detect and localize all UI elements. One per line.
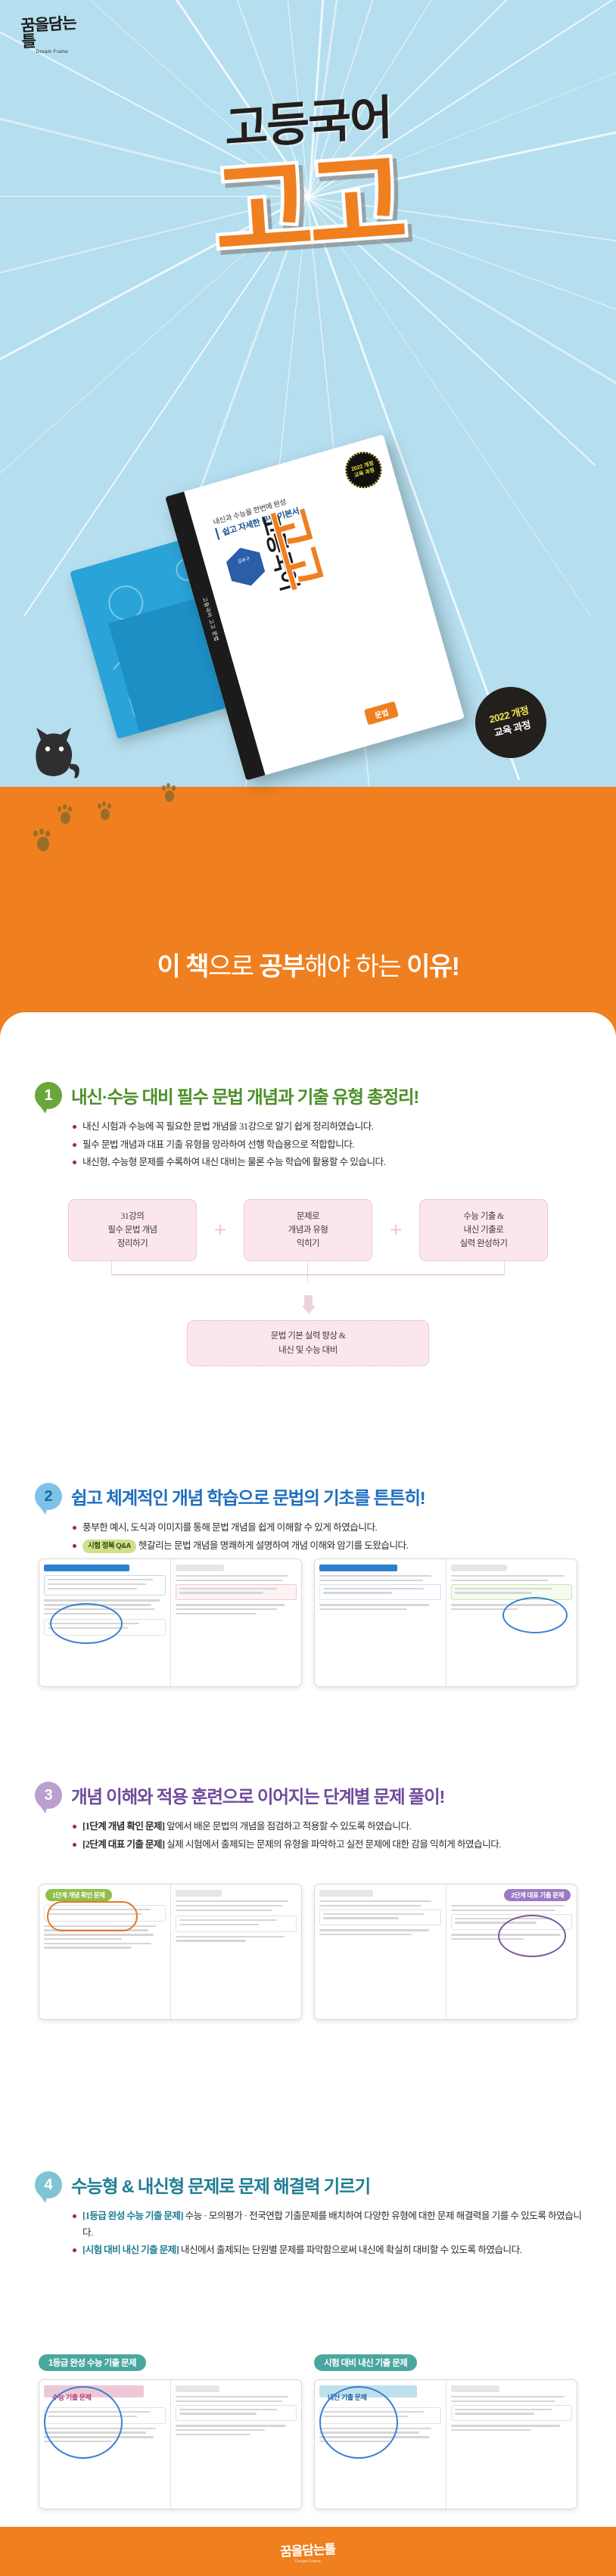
bullet-text: 앞에서 배운 문법의 개념을 점검하고 적용할 수 있도록 하였습니다. <box>164 1821 411 1832</box>
flow-arrow-icon <box>302 1295 315 1314</box>
feature-2-title: 쉽고 체계적인 개념 학습으로 문법의 기초를 튼튼히! <box>71 1484 425 1509</box>
bullet-strong: [1등급 완성 수능 기출 문제] <box>82 2211 183 2221</box>
banner-heading-p5: 이유! <box>406 952 459 981</box>
flow-plus-icon: + <box>197 1218 244 1242</box>
flow-plus-icon: + <box>372 1218 419 1242</box>
feature-3-number: 3 <box>35 1782 62 1809</box>
book-front-cover: 고등국어 고고 문법 내신과 수능을 한번에 완성 쉽고 자세한 문법 기본서 … <box>165 434 465 781</box>
cat-icon <box>27 725 80 779</box>
bullet-text: 헷갈리는 문법 개념을 명쾌하게 설명하여 개념 이해와 암기를 도왔습니다. <box>138 1540 408 1551</box>
footer-brand-logo: 꿈을담는틀 Dream Frame <box>280 2540 335 2564</box>
book-spread-mock <box>39 1558 302 1687</box>
bullet-item: [1단계 개념 확인 문제] 앞에서 배운 문법의 개념을 점검하고 적용할 수… <box>73 1819 586 1835</box>
footer-logo-kr: 꿈을담는틀 <box>280 2538 336 2560</box>
banner-heading-p4: 해야 하는 <box>304 952 406 981</box>
spread-page-left: 1단계 개념 확인 문제 <box>39 1885 170 2019</box>
feature-3-bullets: [1단계 개념 확인 문제] 앞에서 배운 문법의 개념을 점검하고 적용할 수… <box>0 1819 616 1853</box>
feature-4-bullets: [1등급 완성 수능 기출 문제] 수능 · 모의평가 · 전국연합 기출문제를… <box>0 2208 616 2259</box>
orange-banner <box>0 787 616 1036</box>
bullet-item: 내신형, 수능형 문제를 수록하여 내신 대비는 물론 수능 학습에 활용할 수… <box>73 1154 586 1171</box>
bullet-item: [2단계 대표 기출 문제] 실제 시험에서 출제되는 문제의 유형을 파악하고… <box>73 1837 586 1854</box>
book-spread-mock: 내신 기출 문제 <box>314 2379 577 2509</box>
spread-page-right: 2단계 대표 기출 문제 <box>446 1885 577 2019</box>
banner-heading-p3: 공부 <box>260 952 305 981</box>
book-photo: 고등국어 고고 문법 내신과 수능을 한번에 완성 쉽고 자세한 문법 기본서 … <box>89 439 521 757</box>
feature-2-header: 2 쉽고 체계적인 개념 학습으로 문법의 기초를 튼튼히! <box>0 1483 616 1510</box>
bullet-strong: [2단계 대표 기출 문제] <box>82 1839 164 1850</box>
brand-logo-en: Dream Frame <box>21 50 83 54</box>
banner-heading-p2: 으로 <box>208 952 260 981</box>
feature-1-title: 내신·수능 대비 필수 문법 개념과 기출 유형 총정리! <box>71 1083 418 1108</box>
spread-page-right <box>170 2380 301 2509</box>
book-cover-badge: 2022 개정 교육 과정 <box>341 448 386 493</box>
spread-inner-label: 1단계 개념 확인 문제 <box>45 1889 112 1901</box>
book-cover-subject-tag: 문법 <box>364 701 400 726</box>
feature-2-bullets: 풍부한 예시, 도식과 이미지를 통해 문법 개념을 쉽게 이해할 수 있게 하… <box>0 1520 616 1554</box>
feature-3-spreads: 1단계 개념 확인 문제 <box>0 1884 616 2020</box>
spread-page-right <box>170 1885 301 2019</box>
book-spread-mock: 수능 기출 문제 <box>39 2379 302 2509</box>
bullet-strong: [시험 대비 내신 기출 문제] <box>82 2245 179 2255</box>
feature-block-4: 4 수능형 & 내신형 문제로 문제 해결력 기르기 [1등급 완성 수능 기출… <box>0 2171 616 2261</box>
bullet-item: [1등급 완성 수능 기출 문제] 수능 · 모의평가 · 전국연합 기출문제를… <box>73 2208 586 2241</box>
flow-box: 수능 기출 & 내신 기출로 실력 완성하기 <box>419 1199 548 1261</box>
feature-4-title: 수능형 & 내신형 문제로 문제 해결력 기르기 <box>71 2172 370 2198</box>
bullet-text: 실제 시험에서 출제되는 문제의 유형을 파악하고 실전 문제에 대한 감을 익… <box>164 1839 501 1850</box>
bullet-item: [시험 대비 내신 기출 문제] 내신에서 출제되는 단원별 문제를 파악함으로… <box>73 2242 586 2259</box>
feature-1-bullets: 내신 시험과 수능에 꼭 필요한 문법 개념을 31강으로 알기 쉽게 정리하였… <box>0 1119 616 1171</box>
bullet-item: 필수 문법 개념과 대표 기출 유형을 망라하여 선행 학습용으로 적합합니다. <box>73 1137 586 1154</box>
spread-page-left: 수능 기출 문제 <box>39 2380 170 2509</box>
book-cover-title: 고고 <box>256 498 343 592</box>
book-seal-icon: 강추구 <box>223 543 268 591</box>
bullet-text: 내신에서 출제되는 단원별 문제를 파악함으로써 내신에 확실히 대비할 수 있… <box>179 2245 521 2255</box>
feature-4-header: 4 수능형 & 내신형 문제로 문제 해결력 기르기 <box>0 2171 616 2198</box>
feature-block-1: 1 내신·수능 대비 필수 문법 개념과 기출 유형 총정리! 내신 시험과 수… <box>0 1082 616 1173</box>
spread-page-right <box>170 1559 301 1686</box>
banner-heading-p1: 이 책 <box>157 952 209 981</box>
flow-result-box: 문법 기본 실력 향상 & 내신 및 수능 대비 <box>187 1320 429 1366</box>
learning-flow-diagram: 31강의 필수 문법 개념 정리하기 + 문제로 개념과 유형 익히기 + 수능… <box>0 1199 616 1366</box>
feature-3-title: 개념 이해와 적용 훈련으로 이어지는 단계별 문제 풀이! <box>71 1782 444 1808</box>
hero-title-group: 고등국어 고고 <box>0 85 616 259</box>
spread-inner-label: 내신 기출 문제 <box>321 2391 373 2404</box>
spread-tag: 시험 대비 내신 기출 문제 <box>314 2354 417 2371</box>
qa-tag-badge: 시험 정복 Q&A <box>82 1540 136 1553</box>
book-seal-text: 강추구 <box>238 557 251 564</box>
brand-logo-kr: 꿈을담는틀 <box>20 15 84 50</box>
bullet-item: 내신 시험과 수능에 꼭 필요한 문법 개념을 31강으로 알기 쉽게 정리하였… <box>73 1119 586 1136</box>
book-spread-mock <box>314 1558 577 1687</box>
spread-inner-label: 수능 기출 문제 <box>45 2391 98 2404</box>
promo-page: ✓ 꿈을담는틀 Dream Frame 고등국어 고고 <box>0 0 616 2576</box>
page-footer: 꿈을담는틀 Dream Frame <box>0 2527 616 2576</box>
spread-page-left: 내신 기출 문제 <box>315 2380 446 2509</box>
feature-block-3: 3 개념 이해와 적용 훈련으로 이어지는 단계별 문제 풀이! [1단계 개념… <box>0 1782 616 1854</box>
feature-3-header: 3 개념 이해와 적용 훈련으로 이어지는 단계별 문제 풀이! <box>0 1782 616 1809</box>
spread-page-right <box>446 2380 577 2509</box>
bullet-strong: [1단계 개념 확인 문제] <box>82 1821 164 1832</box>
book-spread-mock: 1단계 개념 확인 문제 <box>39 1884 302 2020</box>
flow-box: 문제로 개념과 유형 익히기 <box>244 1199 372 1261</box>
bullet-item-with-tag: 시험 정복 Q&A헷갈리는 문법 개념을 명쾌하게 설명하여 개념 이해와 암기… <box>73 1538 586 1555</box>
flow-box: 31강의 필수 문법 개념 정리하기 <box>68 1199 197 1261</box>
hero-main-title: 고고 <box>0 136 616 281</box>
feature-2-number: 2 <box>35 1483 62 1510</box>
bullet-item: 풍부한 예시, 도식과 이미지를 통해 문법 개념을 쉽게 이해할 수 있게 하… <box>73 1520 586 1537</box>
footer-logo-en: Dream Frame <box>280 2559 335 2564</box>
spread-page-left <box>315 1885 446 2019</box>
spread-tag: 1등급 완성 수능 기출 문제 <box>39 2354 146 2371</box>
spread-page-right <box>446 1559 577 1686</box>
feature-1-header: 1 내신·수능 대비 필수 문법 개념과 기출 유형 총정리! <box>0 1082 616 1109</box>
flow-row-top: 31강의 필수 문법 개념 정리하기 + 문제로 개념과 유형 익히기 + 수능… <box>0 1199 616 1261</box>
banner-heading: 이 책으로 공부해야 하는 이유! <box>0 946 616 983</box>
flow-connector <box>111 1261 505 1296</box>
feature-4-number: 4 <box>35 2171 62 2198</box>
book-spread-mock: 2단계 대표 기출 문제 <box>314 1884 577 2020</box>
spread-inner-label: 2단계 대표 기출 문제 <box>504 1889 571 1901</box>
brand-logo: ✓ 꿈을담는틀 Dream Frame <box>21 17 83 61</box>
feature-block-2: 2 쉽고 체계적인 개념 학습으로 문법의 기초를 튼튼히! 풍부한 예시, 도… <box>0 1483 616 1555</box>
feature-2-spreads <box>0 1558 616 1687</box>
spread-page-left <box>315 1559 446 1686</box>
feature-1-number: 1 <box>35 1082 62 1109</box>
feature-4-spread-tags: 1등급 완성 수능 기출 문제 시험 대비 내신 기출 문제 <box>0 2354 616 2376</box>
spread-page-left <box>39 1559 170 1686</box>
feature-4-spreads: 수능 기출 문제 <box>0 2379 616 2509</box>
